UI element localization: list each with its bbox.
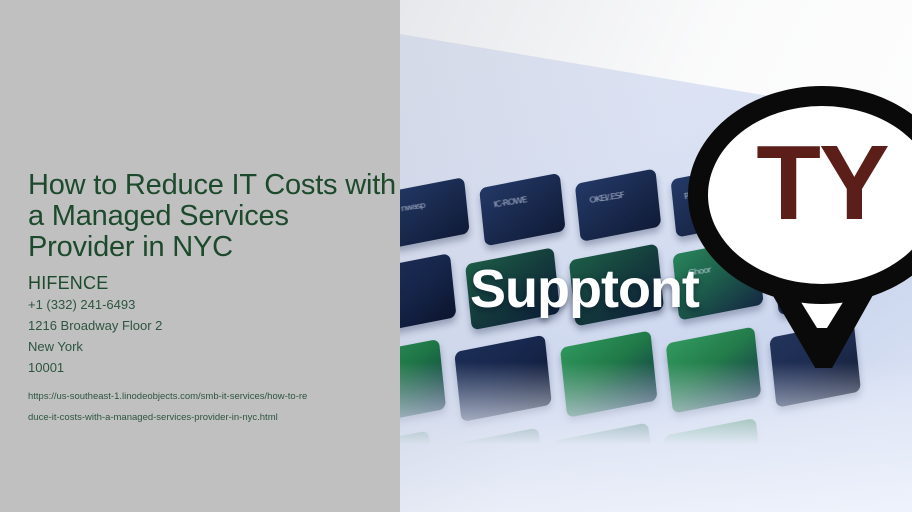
article-url[interactable]: https://us-southeast-1.linodeobjects.com… xyxy=(28,386,368,428)
keycap-label: OKEI/.ESF xyxy=(589,191,625,205)
photo-bottom-fade xyxy=(400,362,912,512)
keycap-label: IC-ROWE xyxy=(493,196,527,210)
article-url-line-2[interactable]: duce-it-costs-with-a-managed-services-pr… xyxy=(28,407,368,428)
keycap-label: nwasp xyxy=(401,201,426,214)
article-text-block: How to Reduce IT Costs with a Managed Se… xyxy=(28,170,400,428)
page-root: How to Reduce IT Costs with a Managed Se… xyxy=(0,0,912,512)
article-info-panel: How to Reduce IT Costs with a Managed Se… xyxy=(0,0,400,512)
article-url-line-1[interactable]: https://us-southeast-1.linodeobjects.com… xyxy=(28,386,368,407)
hero-overlay-word: Supptont xyxy=(470,262,699,316)
keycap: nwasp xyxy=(400,177,470,248)
contact-address-zip: 10001 xyxy=(28,358,400,378)
map-pin-label: TY xyxy=(688,130,912,236)
brand-name: HIFENCE xyxy=(28,272,400,294)
page-title: How to Reduce IT Costs with a Managed Se… xyxy=(28,170,400,263)
keycap: IC-ROWE xyxy=(479,173,566,247)
article-hero-image: nwasp IC-ROWE OKEI/.ESF Pact J xyxy=(400,0,912,512)
contact-address-street: 1216 Broadway Floor 2 xyxy=(28,316,400,336)
map-pin-badge: TY xyxy=(688,86,912,368)
keyboard-photo: nwasp IC-ROWE OKEI/.ESF Pact J xyxy=(400,0,912,512)
keycap: OKEI/.ESF xyxy=(575,168,662,242)
contact-address-city: New York xyxy=(28,337,400,357)
contact-phone[interactable]: +1 (332) 241-6493 xyxy=(28,295,400,315)
keycap xyxy=(400,253,457,333)
